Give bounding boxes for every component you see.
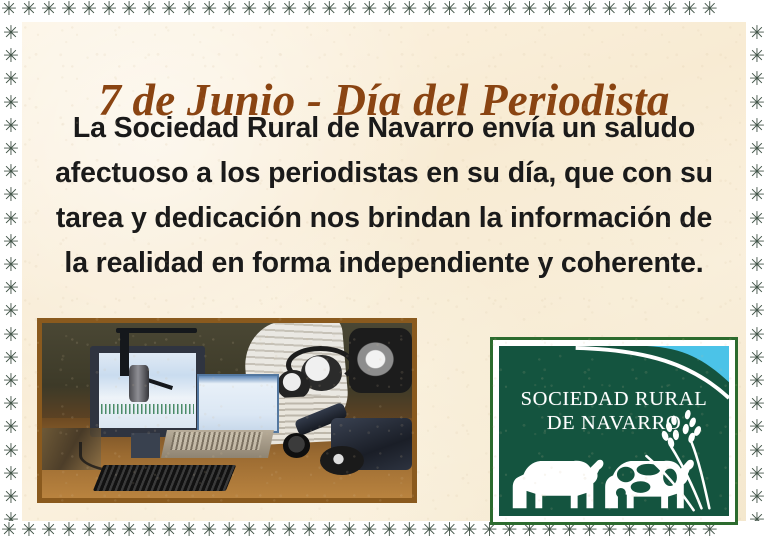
camera-lens-icon [349,328,412,393]
sociedad-rural-logo: SOCIEDAD RURAL DE NAVARRO [490,337,738,525]
journalism-photo [37,318,417,503]
keyboard-icon [92,465,236,491]
laptop-screen [197,374,278,434]
cow-silhouette-spotted [605,460,694,509]
cow-spot-3 [631,481,651,493]
shotgun-mic-icon [283,433,311,458]
logo-line-2: DE NAVARRO [499,411,729,435]
greeting-message: La Sociedad Rural de Navarro envía un sa… [32,106,736,286]
cow-spot-5 [616,488,626,498]
border-pattern-left: ✳✳✳✳✳✳✳✳✳✳✳✳✳✳✳✳✳✳✳✳✳✳ [0,22,22,521]
logo-artwork: SOCIEDAD RURAL DE NAVARRO [499,346,729,516]
audio-waveform-icon [101,404,194,415]
border-pattern-right: ✳✳✳✳✳✳✳✳✳✳✳✳✳✳✳✳✳✳✳✳✳✳ [746,22,768,521]
mic-boom-arm-vertical [120,330,129,376]
microphone-icon [129,365,149,402]
message-line-3: tarea y dedicación nos brindan la inform… [32,196,736,241]
logo-wordmark: SOCIEDAD RURAL DE NAVARRO [499,387,729,435]
video-camera-lens-icon [320,446,364,476]
logo-line-1: SOCIEDAD RURAL [521,388,708,410]
message-line-4: la realidad en forma independiente y coh… [32,241,736,286]
photo-scene [42,323,412,498]
border-pattern-top: ✳✳✳✳✳✳✳✳✳✳✳✳✳✳✳✳✳✳✳✳✳✳✳✳✳✳✳✳✳✳✳✳✳✳✳✳ [0,0,768,22]
cow-spot-1 [617,467,635,482]
cow-silhouette-solid [513,460,604,509]
poster-canvas: ✳✳✳✳✳✳✳✳✳✳✳✳✳✳✳✳✳✳✳✳✳✳✳✳✳✳✳✳✳✳✳✳✳✳✳✳ ✳✳✳… [0,0,768,543]
message-line-2: afectuoso a los periodistas en su día, q… [32,151,736,196]
message-line-1: La Sociedad Rural de Navarro envía un sa… [32,106,736,151]
poster-body: 7 de Junio - Día del Periodista La Socie… [22,22,746,521]
